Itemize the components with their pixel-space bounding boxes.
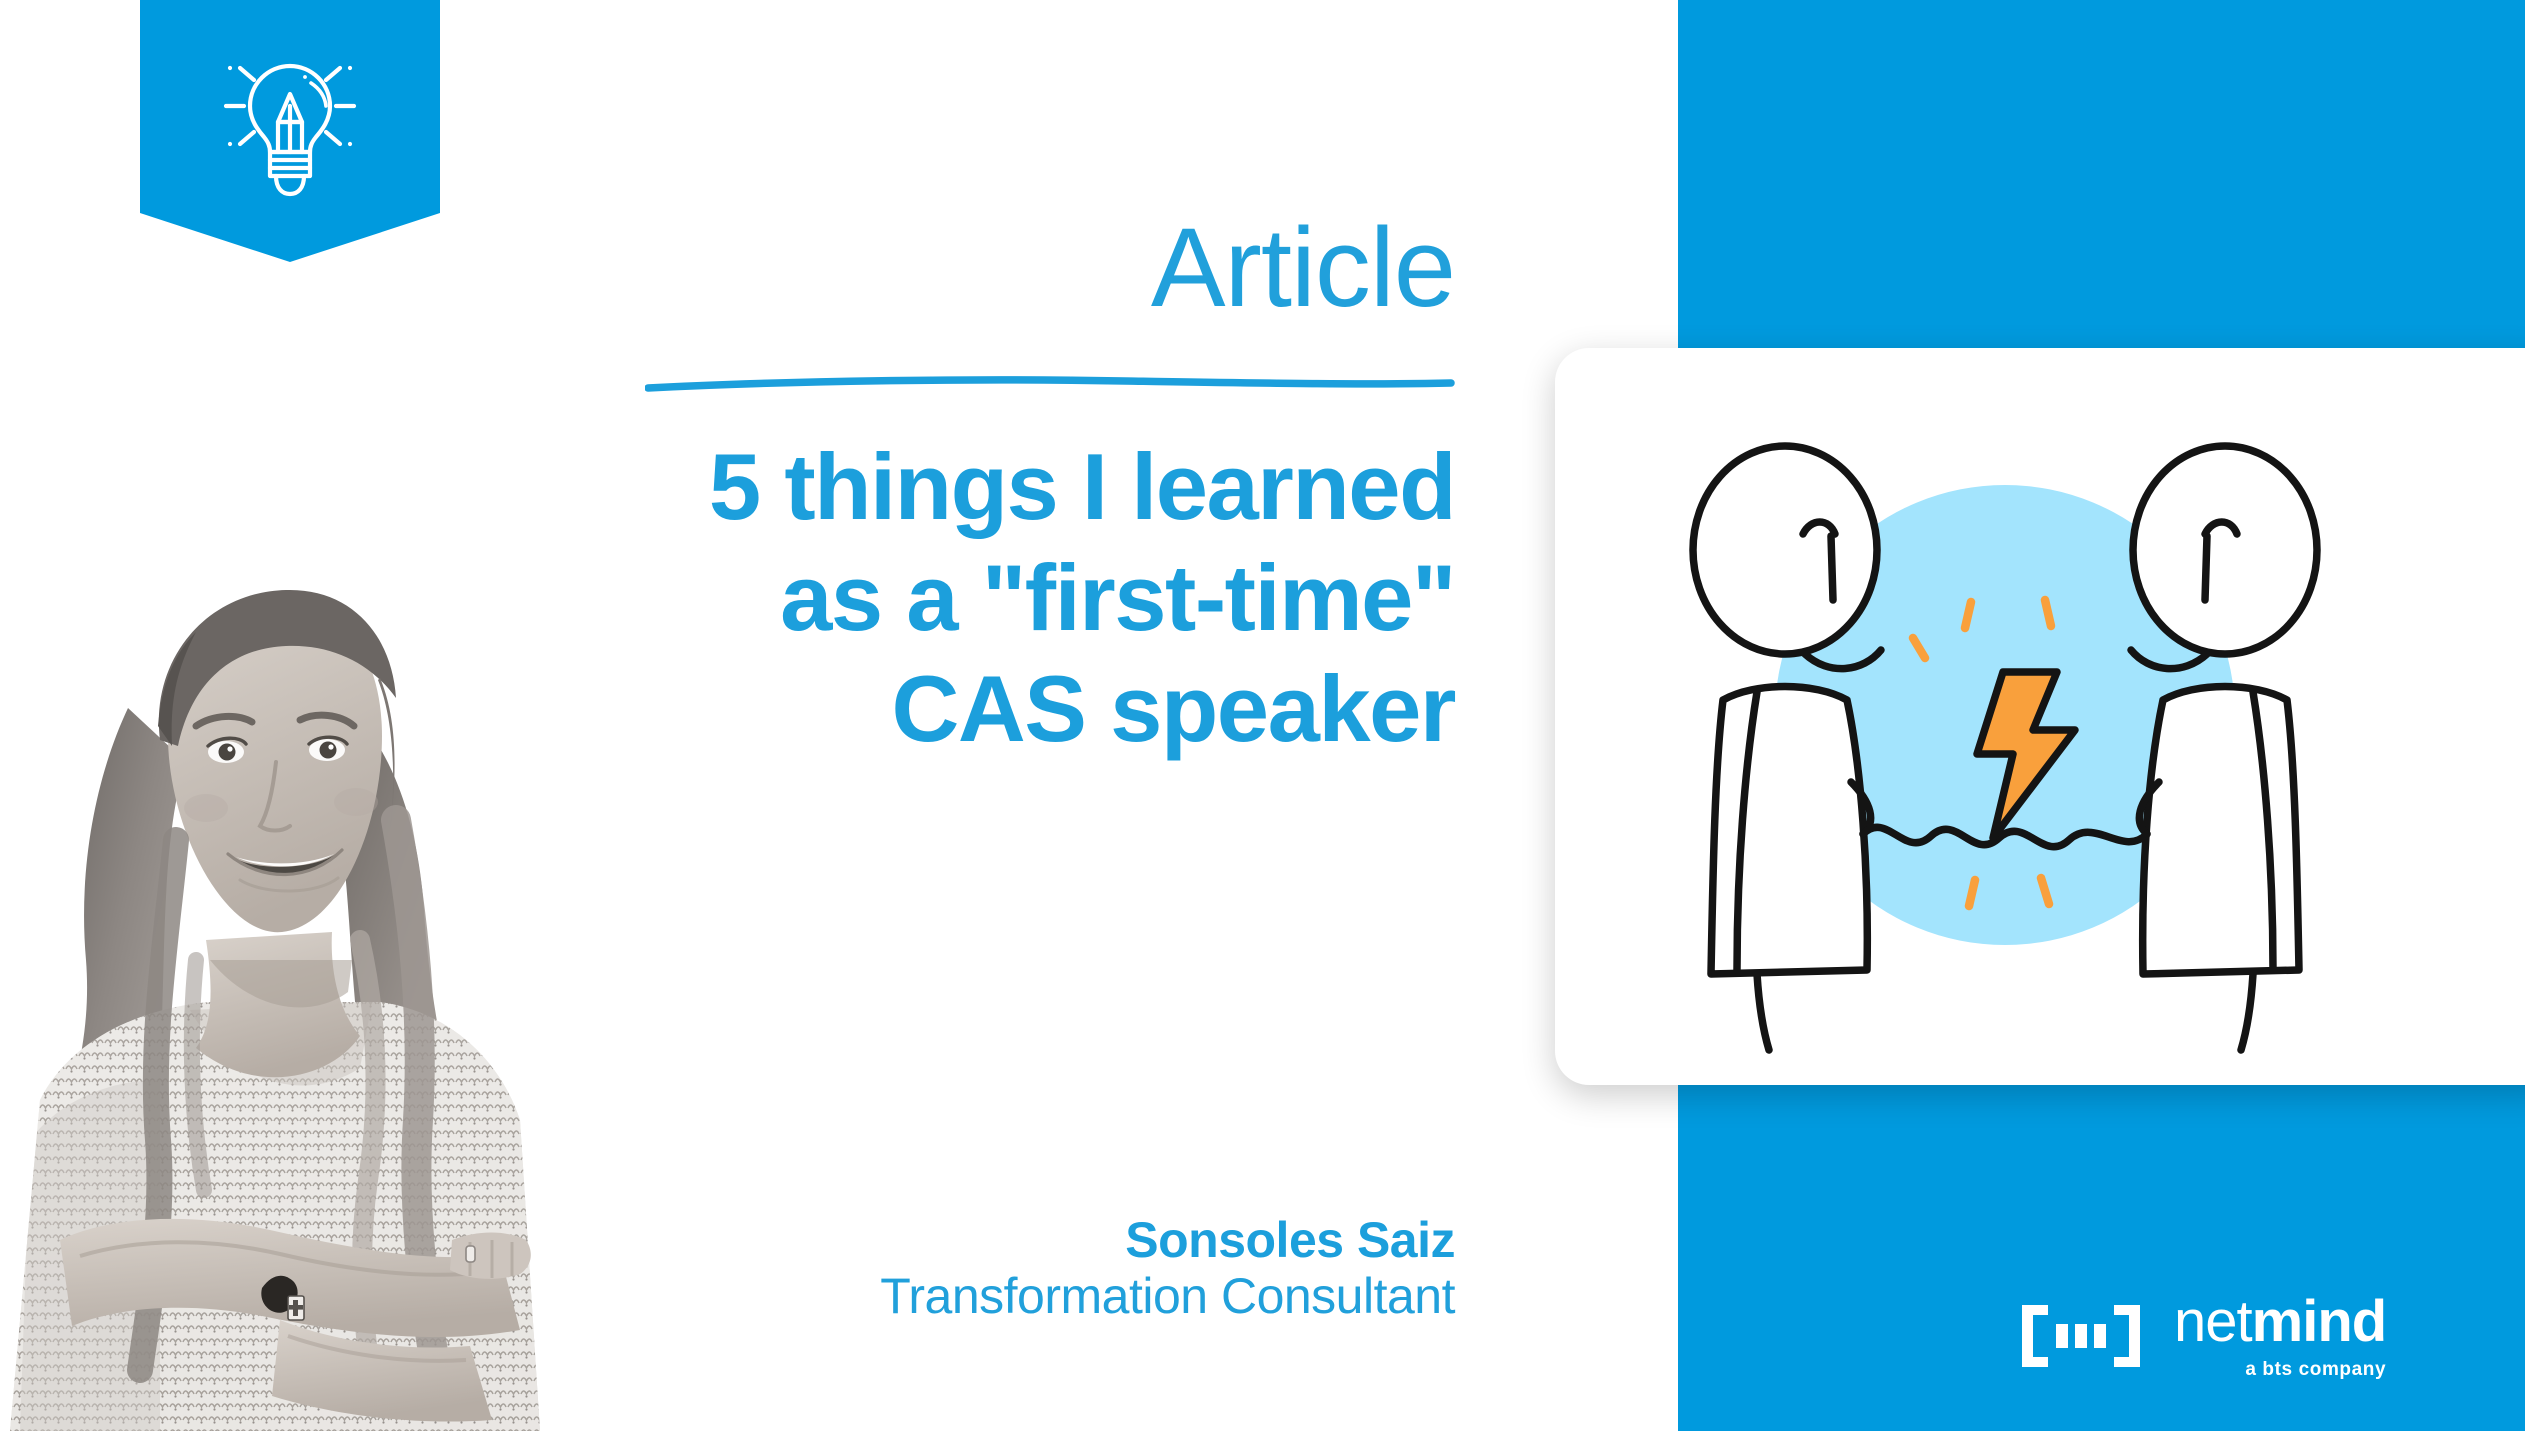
bracket-bars-icon	[2022, 1305, 2140, 1367]
lightbulb-pencil-icon	[210, 44, 370, 204]
author-portrait-photo	[0, 540, 600, 1431]
eyebrow-label: Article	[560, 212, 1455, 324]
two-people-connecting-illustration	[1605, 370, 2405, 1070]
ribbon-badge	[140, 0, 440, 262]
logo-wordmark: netmind a bts company	[2174, 1293, 2386, 1379]
netmind-logo: netmind a bts company	[2022, 1288, 2402, 1383]
author-role: Transformation Consultant	[560, 1268, 1455, 1324]
title-divider-rule	[645, 372, 1455, 396]
portrait-illustration	[0, 540, 600, 1431]
content-column: Article 5 things I learned as a "first-t…	[560, 0, 1455, 1431]
page-title: 5 things I learned as a "first-time" CAS…	[560, 432, 1455, 765]
logo-name: netmind	[2174, 1293, 2386, 1351]
logo-name-bold: mind	[2252, 1289, 2387, 1354]
logo-name-light: net	[2174, 1289, 2252, 1354]
author-name: Sonsoles Saiz	[560, 1212, 1455, 1268]
author-block: Sonsoles Saiz Transformation Consultant	[560, 1212, 1455, 1324]
illustration-card	[1555, 348, 2525, 1085]
logo-tagline: a bts company	[2245, 1360, 2386, 1379]
